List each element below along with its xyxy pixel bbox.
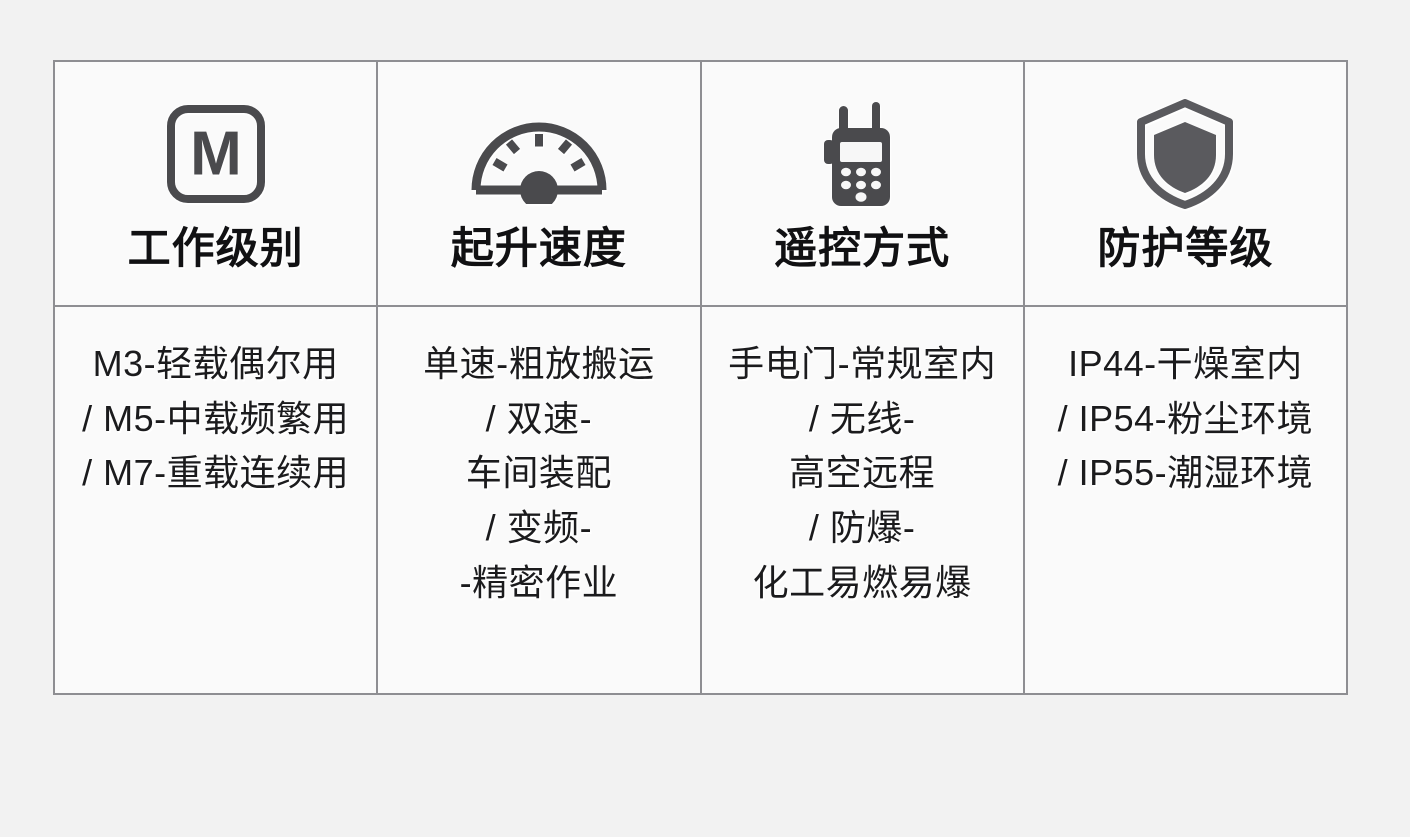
specification-comparison-table: M 工作级别 — [53, 60, 1348, 695]
m-badge-icon-svg: M — [163, 101, 269, 207]
body-text-work-level: M3-轻载偶尔用 / M5-中载频繁用 / M7-重载连续用 — [82, 337, 349, 501]
header-cell-remote-control: 遥控方式 — [702, 62, 1025, 305]
body-line: / 防爆- — [728, 501, 996, 556]
walkie-talkie-icon-svg — [816, 98, 908, 210]
body-cell-protection-rating: IP44-干燥室内 / IP54-粉尘环境 / IP55-潮湿环境 — [1025, 307, 1346, 693]
header-cell-work-level: M 工作级别 — [55, 62, 378, 305]
body-line: / IP55-潮湿环境 — [1058, 446, 1314, 501]
speedometer-gauge-icon — [464, 100, 614, 208]
body-line: / 无线- — [728, 392, 996, 447]
body-cell-work-level: M3-轻载偶尔用 / M5-中载频繁用 / M7-重载连续用 — [55, 307, 378, 693]
body-line: IP44-干燥室内 — [1058, 337, 1314, 392]
table-header-row: M 工作级别 — [55, 62, 1346, 307]
speedometer-gauge-icon-svg — [464, 104, 614, 204]
body-line: / M7-重载连续用 — [82, 446, 349, 501]
body-line: 手电门-常规室内 — [728, 337, 996, 392]
table-body-row: M3-轻载偶尔用 / M5-中载频繁用 / M7-重载连续用 单速-粗放搬运 /… — [55, 307, 1346, 693]
header-title-lift-speed: 起升速度 — [451, 226, 627, 273]
body-line: M3-轻载偶尔用 — [82, 337, 349, 392]
body-line: / M5-中载频繁用 — [82, 392, 349, 447]
body-line: -精密作业 — [423, 556, 655, 611]
body-line: 高空远程 — [728, 446, 996, 501]
header-title-work-level: 工作级别 — [128, 226, 304, 273]
body-line: / IP54-粉尘环境 — [1058, 392, 1314, 447]
body-line: / 双速- — [423, 392, 655, 447]
header-cell-protection-rating: 防护等级 — [1025, 62, 1346, 305]
walkie-talkie-icon — [816, 100, 908, 208]
body-line: 单速-粗放搬运 — [423, 337, 655, 392]
body-line: 车间装配 — [423, 446, 655, 501]
body-cell-lift-speed: 单速-粗放搬运 / 双速- 车间装配 / 变频- -精密作业 — [378, 307, 701, 693]
body-text-protection-rating: IP44-干燥室内 / IP54-粉尘环境 / IP55-潮湿环境 — [1058, 337, 1314, 501]
svg-text:M: M — [190, 120, 242, 189]
body-text-remote-control: 手电门-常规室内 / 无线- 高空远程 / 防爆- 化工易燃易爆 — [728, 337, 996, 611]
body-line: / 变频- — [423, 501, 655, 556]
header-title-remote-control: 遥控方式 — [774, 226, 950, 273]
body-cell-remote-control: 手电门-常规室内 / 无线- 高空远程 / 防爆- 化工易燃易爆 — [702, 307, 1025, 693]
body-text-lift-speed: 单速-粗放搬运 / 双速- 车间装配 / 变频- -精密作业 — [423, 337, 655, 611]
shield-icon-svg — [1135, 98, 1235, 210]
m-badge-icon: M — [163, 100, 269, 208]
shield-icon — [1135, 100, 1235, 208]
body-line: 化工易燃易爆 — [728, 556, 996, 611]
header-cell-lift-speed: 起升速度 — [378, 62, 701, 305]
header-title-protection-rating: 防护等级 — [1097, 226, 1273, 273]
